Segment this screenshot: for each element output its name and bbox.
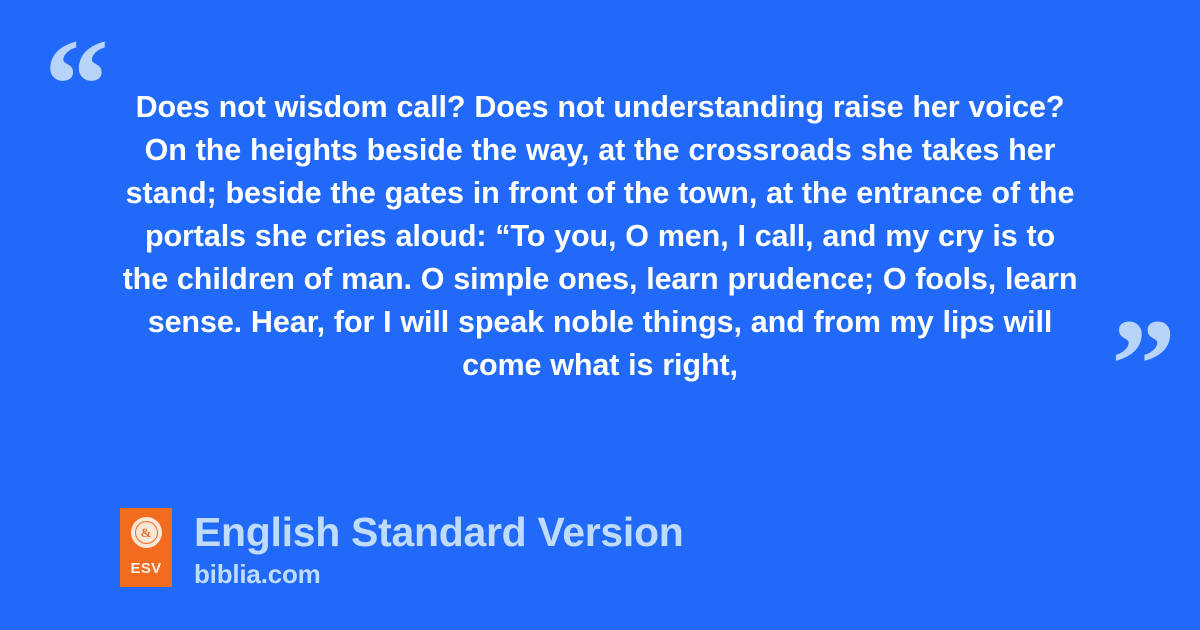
attribution-text-group: English Standard Version biblia.com xyxy=(194,508,683,589)
esv-abbreviation-label: ESV xyxy=(131,561,162,576)
site-url-label: biblia.com xyxy=(194,559,683,589)
esv-logo-badge: & ESV xyxy=(120,508,172,587)
esv-seal-monogram: & xyxy=(141,526,152,539)
esv-seal-icon: & xyxy=(131,517,162,548)
opening-quote-icon: “ xyxy=(44,20,109,150)
verse-image-card: “ Does not wisdom call? Does not underst… xyxy=(0,0,1200,630)
closing-quote-icon: ” xyxy=(1111,300,1176,430)
bible-version-title: English Standard Version xyxy=(194,508,683,556)
attribution-footer: & ESV English Standard Version biblia.co… xyxy=(120,508,683,589)
quote-block: Does not wisdom call? Does not understan… xyxy=(118,86,1082,387)
quote-text: Does not wisdom call? Does not understan… xyxy=(118,86,1082,387)
